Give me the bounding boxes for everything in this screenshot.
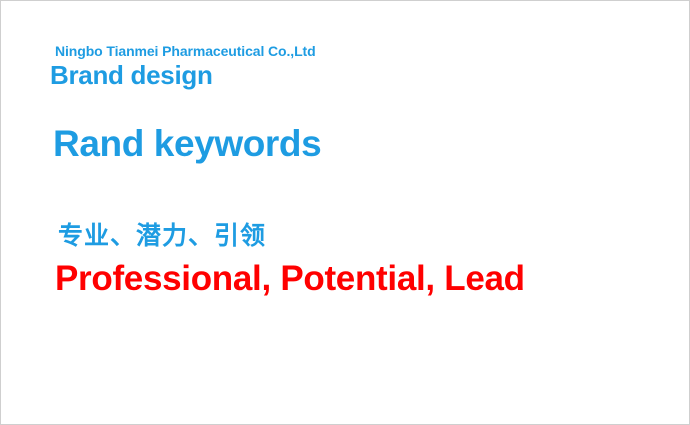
slogan-english: Professional, Potential, Lead: [55, 261, 525, 296]
company-name: Ningbo Tianmei Pharmaceutical Co.,Ltd: [55, 44, 316, 58]
brand-design-title: Brand design: [50, 62, 213, 88]
brand-design-slide: Ningbo Tianmei Pharmaceutical Co.,Ltd Br…: [0, 0, 690, 425]
slogan-chinese: 专业、潜力、引领: [58, 223, 266, 248]
rand-keywords-heading: Rand keywords: [53, 125, 321, 162]
